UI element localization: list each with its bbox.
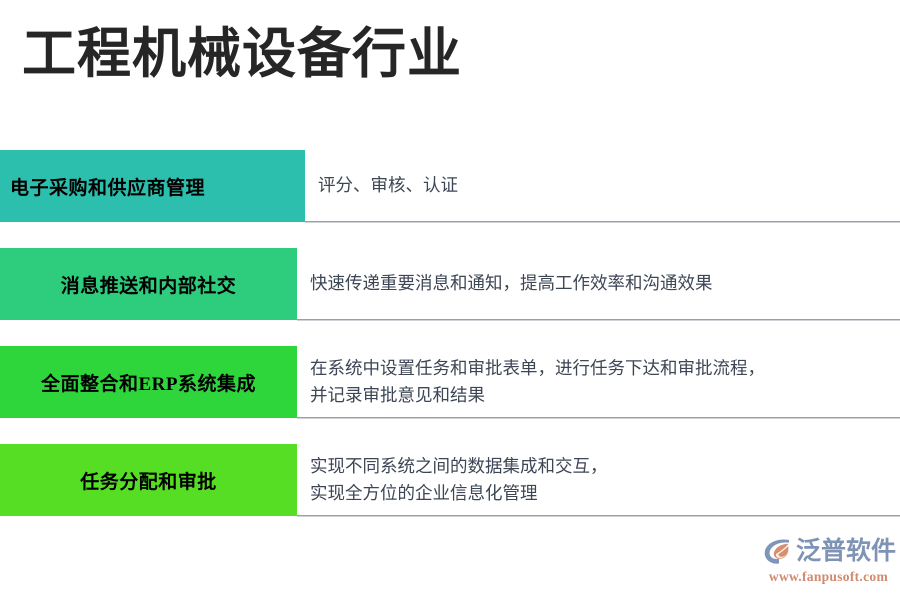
feature-description: 在系统中设置任务和审批表单，进行任务下达和审批流程， 并记录审批意见和结果 bbox=[297, 346, 900, 418]
brand-logo: 泛普软件 www.fanpusoft.com bbox=[762, 536, 888, 586]
feature-label-bar[interactable]: 电子采购和供应商管理 bbox=[0, 150, 305, 222]
brand-logo-row: 泛普软件 bbox=[762, 536, 888, 566]
feature-description: 快速传递重要消息和通知，提高工作效率和沟通效果 bbox=[297, 248, 900, 320]
brand-url: www.fanpusoft.com bbox=[762, 569, 888, 585]
feature-label: 电子采购和供应商管理 bbox=[10, 173, 205, 200]
slide-canvas: 工程机械设备行业 电子采购和供应商管理 评分、审核、认证 消息推送和内部社交 快… bbox=[0, 0, 900, 600]
feature-label-bar[interactable]: 全面整合和ERP系统集成 bbox=[0, 346, 297, 418]
feature-row: 消息推送和内部社交 快速传递重要消息和通知，提高工作效率和沟通效果 bbox=[0, 248, 900, 320]
feature-label: 全面整合和ERP系统集成 bbox=[41, 369, 256, 396]
row-divider bbox=[305, 221, 900, 223]
feature-description: 评分、审核、认证 bbox=[305, 150, 900, 222]
page-title: 工程机械设备行业 bbox=[22, 24, 462, 84]
feature-row: 电子采购和供应商管理 评分、审核、认证 bbox=[0, 150, 900, 222]
feature-row: 任务分配和审批 实现不同系统之间的数据集成和交互， 实现全方位的企业信息化管理 bbox=[0, 444, 900, 516]
feature-label: 消息推送和内部社交 bbox=[61, 271, 237, 298]
feature-label-bar[interactable]: 消息推送和内部社交 bbox=[0, 248, 297, 320]
feature-label: 任务分配和审批 bbox=[80, 467, 217, 494]
row-divider bbox=[297, 319, 900, 321]
fanpu-swoosh-logo-icon bbox=[762, 536, 792, 566]
feature-row-list: 电子采购和供应商管理 评分、审核、认证 消息推送和内部社交 快速传递重要消息和通… bbox=[0, 150, 900, 542]
feature-description: 实现不同系统之间的数据集成和交互， 实现全方位的企业信息化管理 bbox=[297, 444, 900, 516]
feature-row: 全面整合和ERP系统集成 在系统中设置任务和审批表单，进行任务下达和审批流程， … bbox=[0, 346, 900, 418]
brand-name: 泛普软件 bbox=[796, 539, 896, 564]
row-divider bbox=[297, 515, 900, 517]
feature-label-bar[interactable]: 任务分配和审批 bbox=[0, 444, 297, 516]
row-divider bbox=[297, 417, 900, 419]
